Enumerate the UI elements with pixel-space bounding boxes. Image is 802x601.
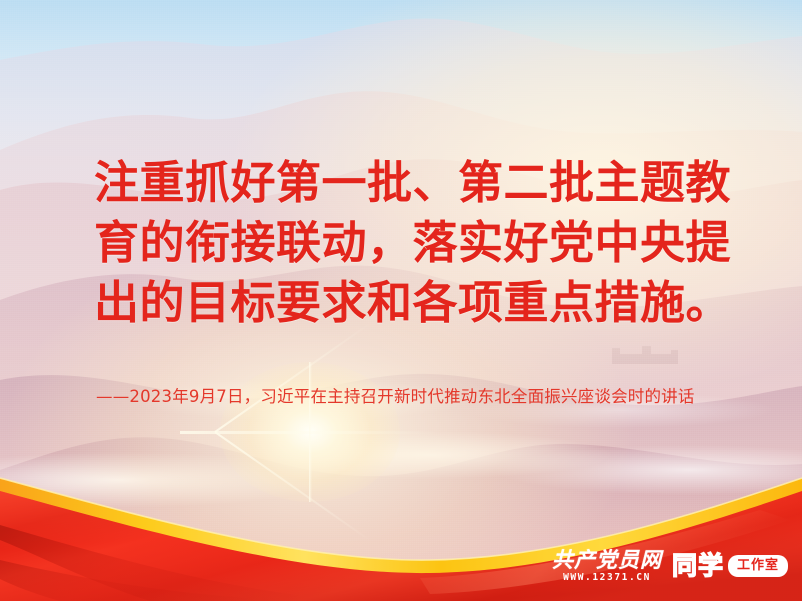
site-url: WWW.12371.CN [563,572,651,584]
studio-logo[interactable]: 同学 工作室 [672,553,788,579]
studio-name: 同学 [672,553,724,579]
site-logo[interactable]: 共产党员网 WWW.12371.CN [552,549,662,584]
studio-label-badge: 工作室 [728,555,788,577]
logo-bar: 共产党员网 WWW.12371.CN 同学 工作室 [552,543,792,589]
site-name: 共产党员网 [552,549,662,571]
red-silk-ribbon [0,0,802,601]
poster-canvas: 注重抓好第一批、第二批主题教 育的衔接联动，落实好党中央提 出的目标要求和各项重… [0,0,802,601]
